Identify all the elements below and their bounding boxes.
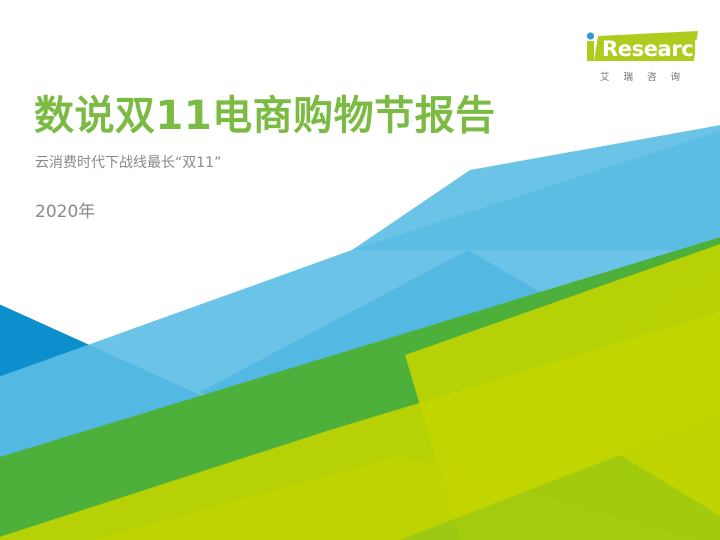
logo-wordmark-text: Research (602, 37, 702, 61)
report-cover-slide: Research 艾 瑞 咨 询 数说双11电商购物节报告 云消费时代下战线最长… (0, 0, 720, 540)
iresearch-logo: Research 艾 瑞 咨 询 (578, 28, 702, 90)
logo-chinese-name: 艾 瑞 咨 询 (578, 69, 702, 83)
logo-i-dot-icon (587, 32, 594, 39)
publication-year: 2020年 (35, 200, 95, 224)
logo-mark: Research (578, 28, 702, 66)
logo-i-stem (587, 41, 594, 61)
page-title: 数说双11电商购物节报告 (34, 92, 496, 140)
logo-wordmark-graphic: Research (578, 28, 702, 66)
page-subtitle: 云消费时代下战线最长“双11” (35, 153, 221, 173)
